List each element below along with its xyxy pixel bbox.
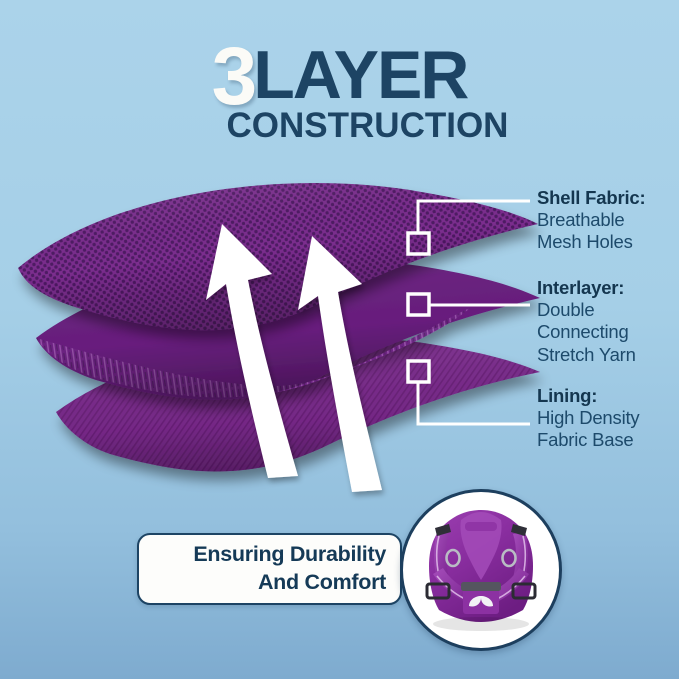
callout-shell-heading: Shell Fabric: [537, 187, 645, 209]
callout-shell-line2: Mesh Holes [537, 231, 645, 253]
tagline-banner: Ensuring Durability And Comfort [137, 533, 402, 605]
title-main-word: LAYER [253, 37, 467, 113]
callout-shell-fabric: Shell Fabric: Breathable Mesh Holes [537, 187, 645, 254]
infographic-canvas: 3LAYER CONSTRUCTION [0, 0, 679, 679]
callout-interlayer: Interlayer: Double Connecting Stretch Ya… [537, 277, 636, 366]
callout-lining-heading: Lining: [537, 385, 639, 407]
callout-shell-line1: Breathable [537, 209, 645, 231]
dog-harness-illustration [403, 492, 559, 648]
product-photo-circle [400, 489, 562, 651]
callout-lining-line1: High Density [537, 407, 639, 429]
title-subline: CONSTRUCTION [0, 108, 679, 143]
callout-interlayer-line1: Double [537, 299, 636, 321]
callout-interlayer-line3: Stretch Yarn [537, 344, 636, 366]
callout-lining: Lining: High Density Fabric Base [537, 385, 639, 452]
page-title: 3LAYER CONSTRUCTION [0, 36, 679, 143]
callout-lining-line2: Fabric Base [537, 429, 639, 451]
callout-interlayer-heading: Interlayer: [537, 277, 636, 299]
tagline-text: Ensuring Durability And Comfort [193, 541, 386, 596]
callout-interlayer-line2: Connecting [537, 321, 636, 343]
